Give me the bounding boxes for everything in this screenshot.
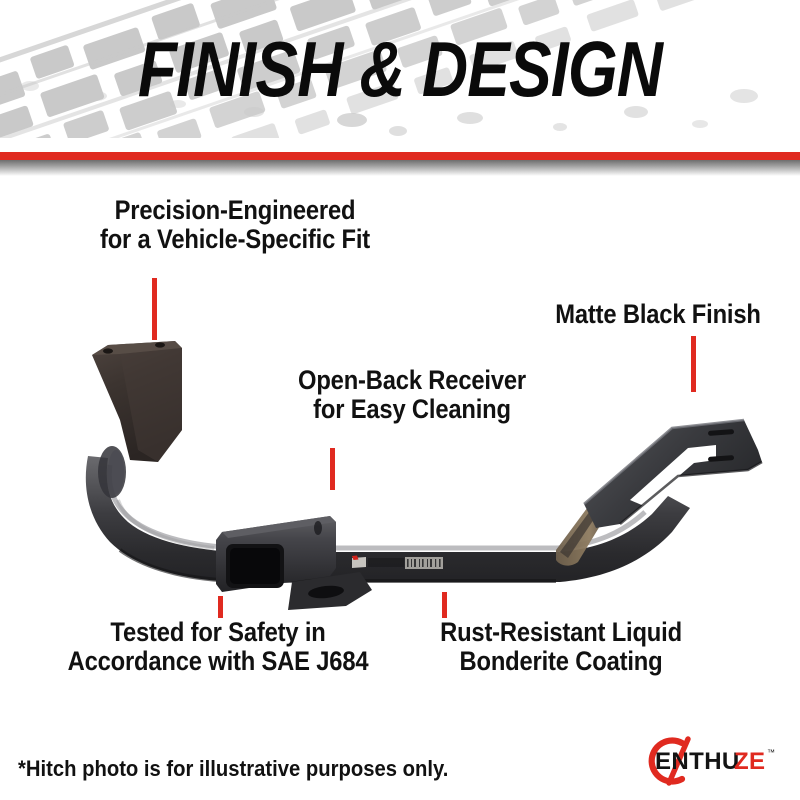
logo-trademark-symbol: ™	[767, 748, 775, 757]
callout-line-2: for a Vehicle-Specific Fit	[72, 225, 398, 254]
disclaimer-text: *Hitch photo is for illustrative purpose…	[18, 756, 448, 782]
logo-wordmark-black: ENTHU	[655, 748, 740, 775]
enthuze-logo: ENTHU ZE ™	[636, 733, 786, 789]
callout-line-2: Accordance with SAE J684	[60, 647, 377, 676]
callout-line-1: Precision-Engineered	[72, 196, 398, 225]
receiver-opening	[226, 544, 284, 588]
red-divider-bar	[0, 152, 800, 160]
header-banner: FINISH & DESIGN	[0, 0, 800, 152]
gray-gradient-shadow	[0, 160, 800, 176]
callout-line-1: Rust-Resistant Liquid	[425, 618, 698, 647]
hitch-product-photo	[0, 300, 800, 620]
tube-elbow-weld	[98, 446, 126, 498]
page-title: FINISH & DESIGN	[72, 24, 728, 114]
infographic-page: FINISH & DESIGN Precision-Engineered for…	[0, 0, 800, 800]
callout-rust-resistant-coating: Rust-Resistant Liquid Bonderite Coating	[406, 618, 716, 676]
callout-precision-engineered: Precision-Engineered for a Vehicle-Speci…	[50, 196, 420, 254]
pointer-line-rust-resistant	[442, 592, 447, 618]
left-mounting-bracket	[92, 341, 182, 462]
callout-tested-for-safety: Tested for Safety in Accordance with SAE…	[38, 618, 398, 676]
logo-wordmark-red: ZE	[734, 748, 765, 775]
pointer-line-tested-for-safety	[218, 596, 223, 618]
callout-line-1: Tested for Safety in	[60, 618, 377, 647]
callout-line-2: Bonderite Coating	[425, 647, 698, 676]
